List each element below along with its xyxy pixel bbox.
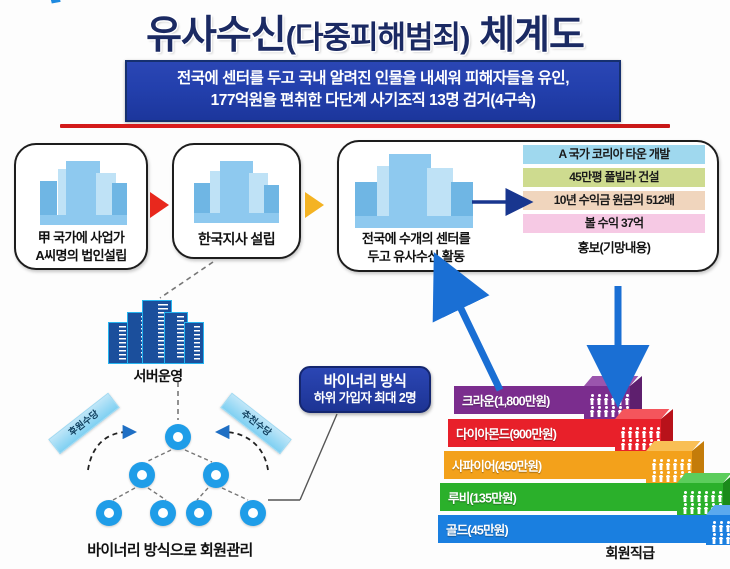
building-icon-3 xyxy=(355,152,475,228)
rank-label-2: 사파이어(450만원) xyxy=(452,456,541,475)
red-divider-rule xyxy=(60,124,670,128)
server-caption: 서버운영 xyxy=(98,366,218,386)
subtitle-line-1: 전국에 센터를 두고 국내 알려진 인물을 내세워 피해자들을 유인, xyxy=(133,68,613,90)
arrow-step1-to-step2-icon xyxy=(150,192,169,218)
ribbon-sponsor-allowance: 후원수당 xyxy=(48,393,120,455)
promo-item-3: 볼 수익 37억 xyxy=(523,214,705,233)
tree-node-l xyxy=(129,462,155,488)
promo-item-0: A 국가 코리아 타운 개발 xyxy=(523,145,705,164)
promo-item-2: 10년 수익금 원금의 512배 xyxy=(523,191,705,210)
rank-bar-2: 사파이어(450만원) xyxy=(444,451,646,479)
tree-edge-r-rl xyxy=(197,488,208,500)
title-main: 유사수신 xyxy=(146,14,286,57)
tree-node-root xyxy=(165,424,191,450)
promo-caption: 홍보(기망내용) xyxy=(523,237,705,256)
tree-edge-l-lr xyxy=(148,488,166,500)
member-rank-caption: 회원직급 xyxy=(560,543,700,563)
title-tail: 체계도 xyxy=(479,14,584,57)
subtitle-banner: 전국에 센터를 두고 국내 알려진 인물을 내세워 피해자들을 유인, 177억… xyxy=(125,60,621,122)
sponsor-allowance-arrow-icon xyxy=(88,432,128,470)
server-icon xyxy=(108,300,204,364)
building-icon-2 xyxy=(194,159,284,223)
binary-method-callout: 바이너리 방식 하위 가입자 최대 2명 xyxy=(299,366,431,413)
rank-bar-3: 루비(135만원) xyxy=(440,483,677,511)
promo-item-1: 45만평 풀빌라 건설 xyxy=(523,168,705,187)
flow-step-3-line-2: 두고 유사수신 활동 xyxy=(348,248,484,266)
infographic-page: 유사수신(다중피해범죄) 체계도 전국에 센터를 두고 국내 알려진 인물을 내… xyxy=(0,0,730,569)
flow-step-2-label: 한국지사 설립 xyxy=(174,230,299,249)
promo-list: A 국가 코리아 타운 개발 45만평 풀빌라 건설 10년 수익금 원금의 5… xyxy=(523,145,705,256)
title-parenthetical: (다중피해범죄) xyxy=(286,20,470,55)
rank-label-3: 루비(135만원) xyxy=(448,488,516,507)
building-icon-1 xyxy=(38,159,130,225)
subtitle-line-2: 177억원을 편취한 다단계 사기조직 13명 검거(4구속) xyxy=(133,90,613,112)
tree-edge-l-ll xyxy=(113,488,135,500)
rank-label-4: 골드(45만원) xyxy=(446,520,508,539)
tree-node-ll xyxy=(96,500,122,526)
flow-step-2-caption: 한국지사 설립 xyxy=(174,230,299,249)
rank-bar-0: 크라운(1,800만원) xyxy=(454,386,588,414)
flow-step-2-box: 한국지사 설립 xyxy=(172,143,301,259)
flow-step-1-line-1: 甲 국가에 사업가 xyxy=(16,229,146,247)
tree-node-rr xyxy=(240,500,266,526)
arrow-step2-to-step3-icon xyxy=(305,192,324,218)
flow-step-1-caption: 甲 국가에 사업가 A씨명의 법인설립 xyxy=(16,229,146,264)
binary-callout-title: 바이너리 방식 xyxy=(301,373,429,390)
rank-bar-4: 골드(45만원) xyxy=(438,515,706,543)
ribbon-referral-allowance: 추천수당 xyxy=(220,393,292,455)
tree-node-rl xyxy=(186,500,212,526)
tree-node-lr xyxy=(150,500,176,526)
tree-edge-r-rr xyxy=(222,488,248,500)
tree-edge-root-r xyxy=(185,450,212,462)
flow-step-1-line-2: A씨명의 법인설립 xyxy=(16,247,146,265)
binary-callout-subtitle: 하위 가입자 최대 2명 xyxy=(301,390,429,406)
flow-step-3-line-1: 전국에 수개의 센터를 xyxy=(348,230,484,248)
rank-bar-1: 다이아몬드(900만원) xyxy=(448,419,615,447)
callout-leader-line xyxy=(300,414,337,500)
page-title: 유사수신(다중피해범죄) 체계도 xyxy=(0,4,730,60)
flow-step-3-caption: 전국에 수개의 센터를 두고 유사수신 활동 xyxy=(348,230,484,265)
tree-node-r xyxy=(203,462,229,488)
member-rank-chart: 크라운(1,800만원) 다이아몬드(900만원) 사파이어 xyxy=(438,372,730,537)
rank-label-0: 크라운(1,800만원) xyxy=(462,391,550,410)
rank-label-1: 다이아몬드(900만원) xyxy=(456,424,556,443)
tree-edge-root-l xyxy=(146,450,171,462)
dashed-connector-step2-server xyxy=(160,262,213,298)
binary-tree-caption: 바이너리 방식으로 회원관리 xyxy=(40,539,300,560)
flow-step-1-box: 甲 국가에 사업가 A씨명의 법인설립 xyxy=(14,143,148,270)
